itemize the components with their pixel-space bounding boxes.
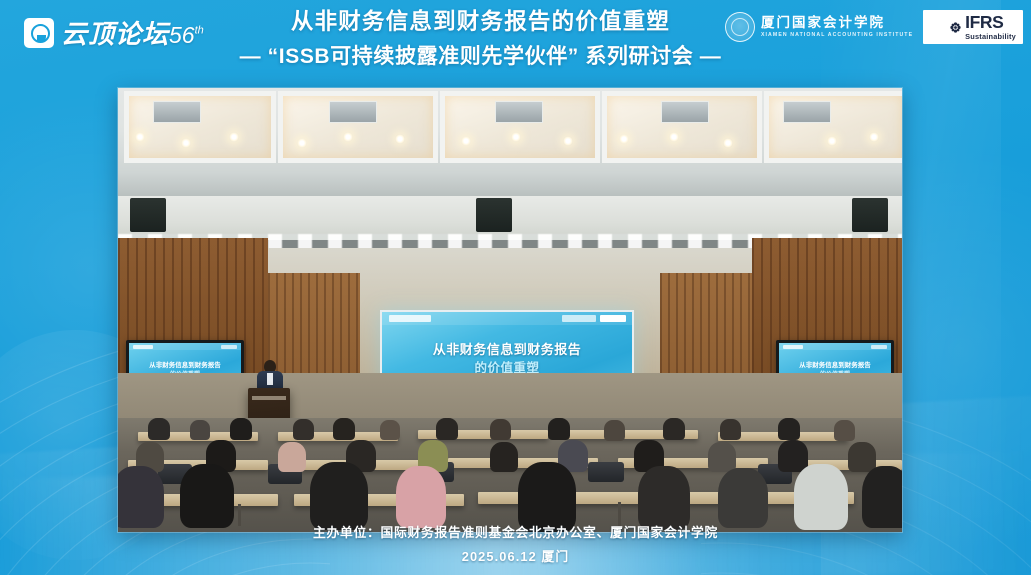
xnai-logo: 厦门国家会计学院 XIAMEN NATIONAL ACCOUNTING INST… xyxy=(725,12,913,42)
audience-person xyxy=(436,418,458,440)
audience-person xyxy=(862,466,902,528)
page-subtitle: — “ISSB可持续披露准则先学伙伴” 系列研讨会 — xyxy=(215,43,746,70)
ifrs-flower-icon xyxy=(949,21,962,34)
slide-header: 云顶论坛56th 从非财务信息到财务报告的价值重塑 — “ISSB可持续披露准则… xyxy=(0,0,1031,88)
monitor-logo-left-icon xyxy=(133,345,153,349)
forum-brand-name: 云顶论坛56th xyxy=(61,14,204,51)
forum-brand-number: 56 xyxy=(169,22,195,48)
ceiling-vent xyxy=(495,101,543,123)
audience-person xyxy=(720,419,741,440)
date-location-text: 2025.06.12 厦门 xyxy=(0,546,1031,565)
ifrs-subtitle: Sustainability xyxy=(965,33,1016,40)
ifrs-logo-text: IFRS Sustainability xyxy=(965,14,1016,40)
slide-logo-ifrs-icon xyxy=(600,315,626,322)
ceiling-vent xyxy=(783,101,831,123)
xnai-name-cn: 厦门国家会计学院 xyxy=(761,16,913,30)
wall-speaker xyxy=(130,198,166,232)
slide-title-line1: 从非财务信息到财务报告 xyxy=(382,339,632,358)
monitor-title-line1: 从非财务信息到财务报告 xyxy=(129,359,241,369)
ceiling-vent xyxy=(153,101,201,123)
xnai-name-en: XIAMEN NATIONAL ACCOUNTING INSTITUTE xyxy=(761,33,913,38)
title-block: 从非财务信息到财务报告的价值重塑 — “ISSB可持续披露准则先学伙伴” 系列研… xyxy=(215,8,746,70)
partner-logos: 厦门国家会计学院 XIAMEN NATIONAL ACCOUNTING INST… xyxy=(725,10,1023,44)
forum-brand-cn: 云顶论坛 xyxy=(61,20,169,49)
audience-person xyxy=(380,420,400,440)
ceiling xyxy=(118,88,902,196)
ceiling-coffer xyxy=(278,91,438,163)
ifrs-name: IFRS xyxy=(965,12,1003,32)
audience-person xyxy=(604,420,625,441)
audience-person xyxy=(834,420,855,441)
slide-logo-xnai-icon xyxy=(562,315,596,322)
audience-person xyxy=(333,418,355,440)
ceiling-coffer xyxy=(440,91,600,163)
audience-person xyxy=(778,418,800,440)
audience-person xyxy=(778,440,808,472)
audience-person xyxy=(310,462,368,530)
audience-person xyxy=(794,464,848,530)
audience-person xyxy=(278,442,306,472)
presentation-slide: 云顶论坛56th 从非财务信息到财务报告的价值重塑 — “ISSB可持续披露准则… xyxy=(0,0,1031,575)
monitor-logo-right-icon xyxy=(871,345,887,349)
audience-person xyxy=(708,442,736,472)
audience-person xyxy=(490,442,518,472)
ceiling-coffer xyxy=(602,91,762,163)
forum-brand: 云顶论坛56th xyxy=(24,14,204,51)
xnai-seal-icon xyxy=(725,12,755,42)
audience-person xyxy=(118,466,164,528)
conference-hall-photo: 从非财务信息到财务报告 的价值重塑 —“ISSB可持续披露准则先学伙伴”系列研讨… xyxy=(118,88,902,532)
speaker-shirt xyxy=(267,373,273,385)
slide-logo-left-icon xyxy=(389,315,431,322)
forum-brand-superscript: th xyxy=(195,24,204,36)
audience-person xyxy=(230,418,252,440)
audience-person xyxy=(663,418,685,440)
wall-speaker xyxy=(476,198,512,232)
ceiling-coffer xyxy=(124,91,276,163)
ceiling-vent xyxy=(329,101,377,123)
wall-speaker xyxy=(852,198,888,232)
slide-caption: 主办单位：国际财务报告准则基金会北京办公室、厦门国家会计学院 2025.06.1… xyxy=(0,522,1031,565)
page-title: 从非财务信息到财务报告的价值重塑 xyxy=(215,8,746,37)
organizers-text: 主办单位：国际财务报告准则基金会北京办公室、厦门国家会计学院 xyxy=(0,522,1031,541)
audience-person xyxy=(848,442,876,472)
monitor-logo-left-icon xyxy=(783,345,803,349)
audience-area xyxy=(118,418,902,532)
audience-person xyxy=(396,466,446,528)
audience-person xyxy=(490,419,511,440)
chair-back xyxy=(588,462,624,482)
ceiling-coffer xyxy=(764,91,902,163)
yunding-logo-icon xyxy=(24,18,54,48)
ifrs-logo: IFRS Sustainability xyxy=(923,10,1023,44)
ceiling-vent xyxy=(661,101,709,123)
xnai-logo-text: 厦门国家会计学院 XIAMEN NATIONAL ACCOUNTING INST… xyxy=(761,16,913,38)
audience-person xyxy=(638,466,690,530)
audience-person xyxy=(180,464,234,528)
audience-person xyxy=(190,420,210,440)
audience-person xyxy=(148,418,170,440)
audience-person xyxy=(293,419,314,440)
monitor-title-line1: 从非财务信息到财务报告 xyxy=(779,359,891,369)
audience-person xyxy=(548,418,570,440)
audience-person xyxy=(718,468,768,528)
monitor-logo-right-icon xyxy=(221,345,237,349)
